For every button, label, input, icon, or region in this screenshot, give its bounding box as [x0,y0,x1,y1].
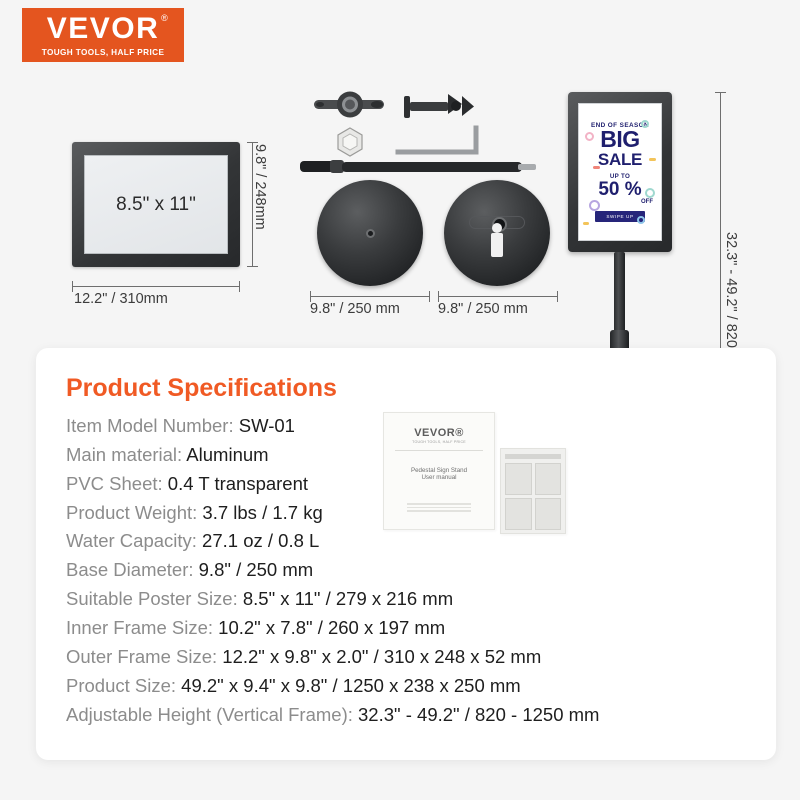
manual-tagline: TOUGH TOOLS, HALF PRICE [393,440,485,444]
poster-frame-window: 8.5" x 11" [84,155,228,254]
sheet-step-cell [535,498,562,530]
base-right-dimension-line [438,291,558,301]
manual-logo: VEVOR® [393,427,485,439]
sheet-step-grid [505,463,561,530]
sheet-step-cell [535,463,562,495]
frame-width-label: 12.2" / 310mm [74,291,168,307]
spec-row-key: Inner Frame Size: [66,617,213,638]
product-spec-page: VEVOR ® TOUGH TOOLS, HALF PRICE 8.5" x 1… [0,0,800,800]
frame-inner-size-label: 8.5" x 11" [116,194,196,216]
brand-name: VEVOR [47,12,160,45]
vevor-logo: VEVOR ® TOUGH TOOLS, HALF PRICE [22,8,184,62]
poster-frame-diagram: 8.5" x 11" [72,142,240,267]
brand-tagline: TOUGH TOOLS, HALF PRICE [42,48,165,57]
base-disc-top-view [317,180,423,286]
poster-off-label: OFF [641,199,653,205]
dimension-bar [72,286,240,287]
sale-poster: END OF SEASON BIG SALE UP TO 50 % OFF SW… [578,103,662,241]
hardware-parts-illustration [300,84,540,179]
sheet-step-cell [505,463,532,495]
pedestal-sign-stand-frame: END OF SEASON BIG SALE UP TO 50 % OFF SW… [568,92,672,252]
page-title: Product Specifications [66,374,746,403]
spec-row-key: Suitable Poster Size: [66,588,238,609]
base-disc-bottom-view [444,180,550,286]
spec-row-value: 9.8" / 250 mm [194,559,314,580]
spec-row: Product Size: 49.2" x 9.4" x 9.8" / 1250… [66,672,746,701]
allen-key-icon [398,128,476,152]
spec-row-value: SW-01 [234,415,295,436]
dimension-cap-right [239,281,240,292]
spec-row: Outer Frame Size: 12.2" x 9.8" x 2.0" / … [66,643,746,672]
frame-width-dimension-line [72,281,240,291]
hardware-parts-group [300,84,540,179]
dimension-bar [310,296,430,297]
spec-row-key: Product Size: [66,675,176,696]
spec-row: Base Diameter: 9.8" / 250 mm [66,556,746,585]
spec-row-key: Item Model Number: [66,415,234,436]
spanner-tool-icon [314,92,384,118]
manual-footer-lines [393,503,485,512]
spec-row-value: 12.2" x 9.8" x 2.0" / 310 x 248 x 52 mm [217,646,541,667]
spec-row-value: 32.3" - 49.2" / 820 - 1250 mm [353,704,600,725]
spec-row-value: 0.4 T transparent [163,473,308,494]
base-right-label: 9.8" / 250 mm [438,301,528,317]
spec-row-value: 10.2" x 7.8" / 260 x 197 mm [213,617,445,638]
registered-mark-icon: ® [161,14,169,23]
spec-row-key: Base Diameter: [66,559,194,580]
poster-headline-sale: SALE [598,151,642,168]
spec-row-value: 8.5" x 11" / 279 x 216 mm [238,588,453,609]
spec-row-key: Outer Frame Size: [66,646,217,667]
manual-title-line-1: Pedestal Sign Stand [393,467,485,474]
manual-registered-mark-icon: ® [455,427,464,439]
spec-row-key: Water Capacity: [66,530,197,551]
spec-row-value: Aluminum [182,444,268,465]
base-left-label: 9.8" / 250 mm [310,301,400,317]
sheet-step-cell [505,498,532,530]
spec-row-key: Main material: [66,444,182,465]
dimension-cap-bottom [247,266,258,267]
disc-key-icon [491,233,503,257]
spec-row-key: Product Weight: [66,502,197,523]
brand-wordmark: VEVOR ® [47,14,160,44]
poster-discount-value: 50 % [598,180,641,199]
manual-divider [395,450,483,451]
manual-title-line-2: User manual [393,474,485,481]
disc-center-hole-icon [366,229,375,238]
poster-headline-big: BIG [600,129,639,150]
spec-row: Adjustable Height (Vertical Frame): 32.3… [66,701,746,730]
dimension-cap-right [429,291,430,302]
spec-row-key: Adjustable Height (Vertical Frame): [66,704,353,725]
frame-height-label: 9.8" / 248mm [252,144,268,230]
assembly-instruction-sheet [500,448,566,534]
spec-row-value: 27.1 oz / 0.8 L [197,530,319,551]
base-left-dimension-line [310,291,430,301]
wing-bolt-icon [404,94,474,118]
sheet-header-bar [505,454,561,459]
telescoping-pole-icon [300,160,536,173]
manual-logo-text: VEVOR [414,427,455,439]
dimension-bar [438,296,558,297]
dimension-cap-right [557,291,558,302]
spec-row: Water Capacity: 27.1 oz / 0.8 L [66,527,746,556]
user-manual-booklet: VEVOR® TOUGH TOOLS, HALF PRICE Pedestal … [383,412,495,530]
spec-row-key: PVC Sheet: [66,473,163,494]
stand-pole-upper [614,252,625,340]
hex-nut-icon [338,128,362,156]
spec-row-value: 49.2" x 9.4" x 9.8" / 1250 x 238 x 250 m… [176,675,521,696]
spec-row: Suitable Poster Size: 8.5" x 11" / 279 x… [66,585,746,614]
spec-row-value: 3.7 lbs / 1.7 kg [197,502,322,523]
spec-row: Inner Frame Size: 10.2" x 7.8" / 260 x 1… [66,614,746,643]
product-specifications-card: Product Specifications Item Model Number… [36,348,776,760]
